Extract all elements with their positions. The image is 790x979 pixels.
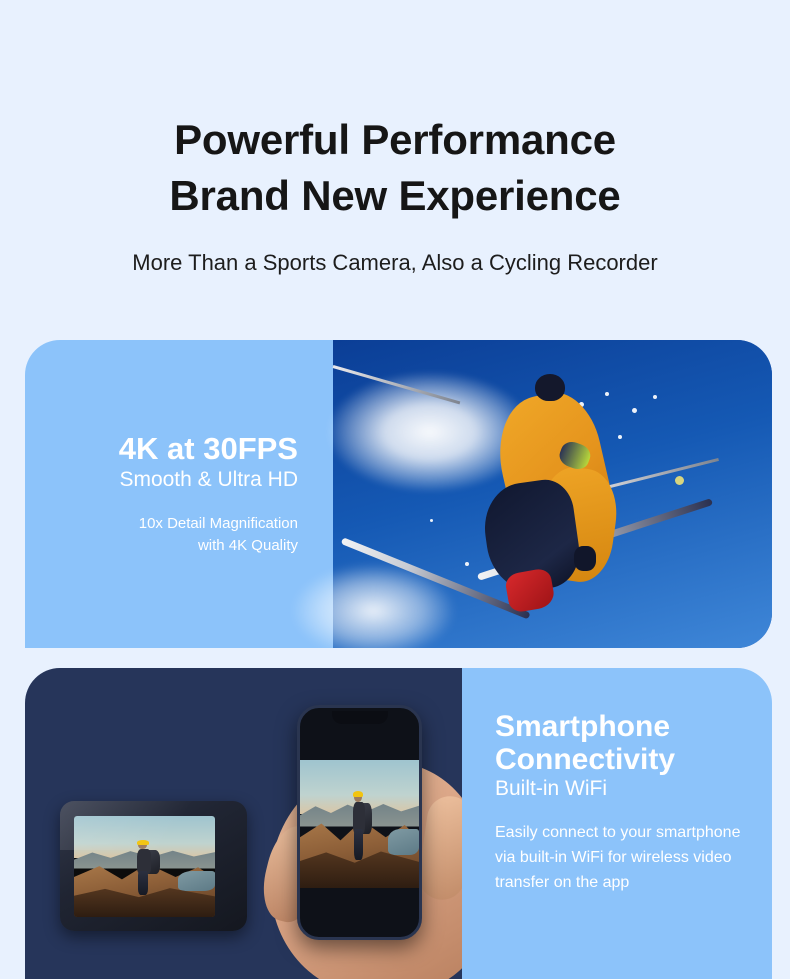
feature-connectivity-body: Easily connect to your smartphone via bu… <box>495 820 744 895</box>
feature-4k-body: 10x Detail Magnification with 4K Quality <box>139 513 298 557</box>
camera-phone-scene <box>25 668 462 979</box>
page-title-line-2: Brand New Experience <box>169 172 620 219</box>
skier-figure <box>482 374 658 620</box>
feature-connectivity-subheading: Built-in WiFi <box>495 776 744 802</box>
feature-card-4k: 4K at 30FPS Smooth & Ultra HD 10x Detail… <box>25 340 772 648</box>
action-camera <box>60 801 247 931</box>
skier-photo <box>333 340 772 648</box>
feature-4k-body-line-1: 10x Detail Magnification <box>139 513 298 535</box>
feature-4k-heading: 4K at 30FPS <box>119 432 298 466</box>
phone-screen <box>300 760 419 888</box>
feature-4k-body-line-2: with 4K Quality <box>139 535 298 557</box>
feature-connectivity-heading-line-1: Smartphone <box>495 710 670 743</box>
hiker-photo-camera <box>74 816 215 917</box>
skier-glove <box>574 546 597 571</box>
feature-card-connectivity: Smartphone Connectivity Built-in WiFi Ea… <box>25 668 772 979</box>
hiker-photo-phone <box>300 760 419 888</box>
page-title-line-1: Powerful Performance <box>174 116 616 163</box>
camera-screen <box>74 816 215 917</box>
page-title: Powerful Performance Brand New Experienc… <box>0 112 790 224</box>
smartphone <box>297 705 422 940</box>
skier-boot <box>504 567 556 614</box>
feature-connectivity-heading-line-2: Connectivity <box>495 743 675 776</box>
feature-4k-subheading: Smooth & Ultra HD <box>119 467 298 493</box>
feature-card-4k-text-panel: 4K at 30FPS Smooth & Ultra HD 10x Detail… <box>25 340 333 648</box>
feature-connectivity-heading: Smartphone Connectivity <box>495 710 744 776</box>
hero-section: Powerful Performance Brand New Experienc… <box>0 0 790 276</box>
feature-card-connectivity-text-panel: Smartphone Connectivity Built-in WiFi Ea… <box>462 668 772 979</box>
page-subtitle: More Than a Sports Camera, Also a Cyclin… <box>0 250 790 276</box>
phone-notch <box>332 711 388 724</box>
skier-helmet <box>535 374 565 401</box>
